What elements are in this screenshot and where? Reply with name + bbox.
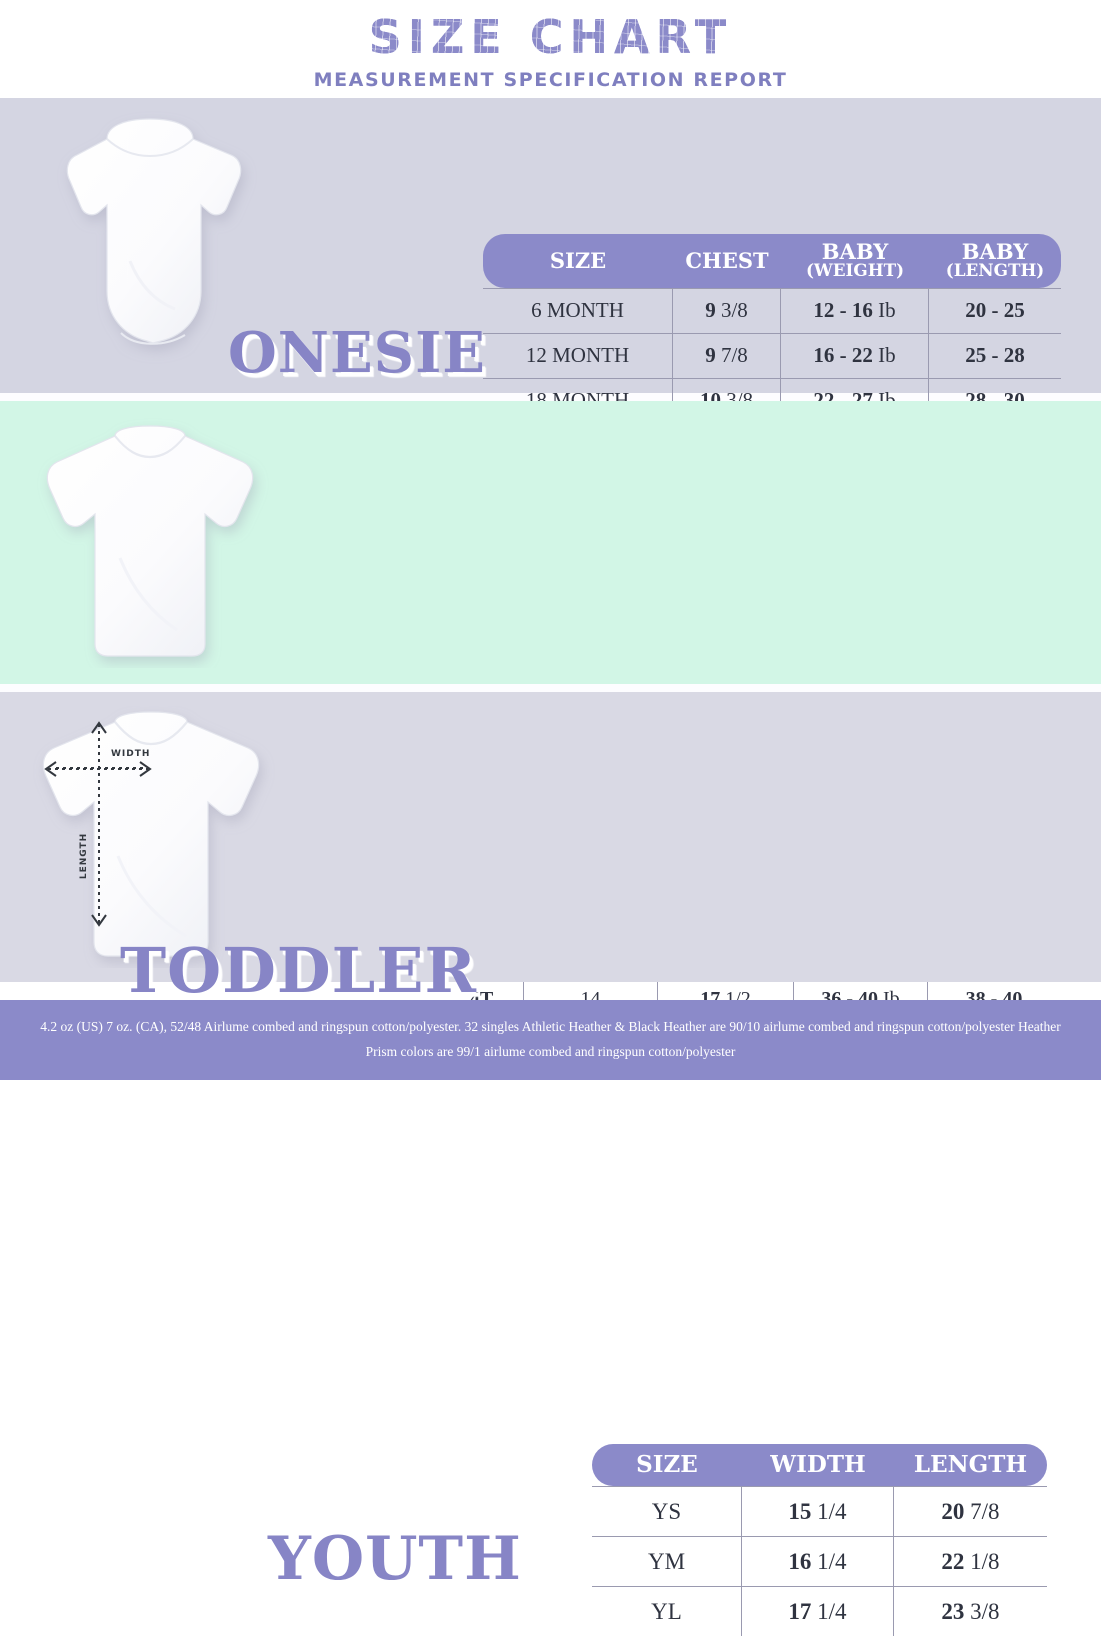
cell-width: 17 1/4 — [742, 1586, 894, 1636]
width-label: WIDTH — [111, 749, 150, 759]
col-header-chest: CHEST — [673, 234, 781, 288]
col-header-baby-weight: BABY (WEIGHT) — [781, 234, 929, 288]
cell-size: YS — [592, 1486, 742, 1536]
cell-baby-weight: 12 - 16 Ib — [781, 288, 929, 333]
fabric-composition-text: 4.2 oz (US) 7 oz. (CA), 52/48 Airlume co… — [40, 1015, 1061, 1065]
col-header-size: SIZE — [592, 1444, 742, 1486]
section-onesie: ONESIE SIZE CHEST BABY (WEIGHT) — [0, 98, 1101, 393]
cell-size: YM — [592, 1536, 742, 1586]
table-header-row: SIZE WIDTH LENGTH — [592, 1444, 1047, 1486]
toddler-tshirt-illustration — [25, 418, 275, 668]
page-title: SIZE CHART — [369, 14, 733, 60]
table-header-row: SIZE CHEST BABY (WEIGHT) BABY (LENGTH) — [483, 234, 1061, 288]
section-label-toddler: TODDLER — [120, 934, 477, 1007]
youth-size-table: SIZE WIDTH LENGTH YS 15 1/4 20 7/8 — [592, 1444, 1047, 1636]
cell-width: 16 1/4 — [742, 1536, 894, 1586]
cell-chest: 9 3/8 — [673, 288, 781, 333]
cell-width: 15 1/4 — [742, 1486, 894, 1536]
cell-baby-weight: 16 - 22 Ib — [781, 333, 929, 378]
cell-baby-length: 20 - 25 — [929, 288, 1061, 333]
length-label: LENGTH — [79, 833, 89, 879]
table-row: 6 MONTH 9 3/8 12 - 16 Ib 20 - 25 — [483, 288, 1061, 333]
col-header-size: SIZE — [483, 234, 673, 288]
col-header-baby-length: BABY (LENGTH) — [929, 234, 1061, 288]
youth-size-table-wrapper: SIZE WIDTH LENGTH YS 15 1/4 20 7/8 — [592, 1444, 1047, 1636]
cell-size: 12 MONTH — [483, 333, 673, 378]
cell-chest: 9 7/8 — [673, 333, 781, 378]
youth-tshirt-illustration: WIDTH LENGTH — [18, 706, 283, 968]
cell-baby-length: 25 - 28 — [929, 333, 1061, 378]
col-header-length: LENGTH — [894, 1444, 1047, 1486]
band-divider — [0, 684, 1101, 692]
table-row: YS 15 1/4 20 7/8 — [592, 1486, 1047, 1536]
table-row: YL 17 1/4 23 3/8 — [592, 1586, 1047, 1636]
cell-size: 6 MONTH — [483, 288, 673, 333]
cell-length: 22 1/8 — [894, 1536, 1047, 1586]
footer-bar: 4.2 oz (US) 7 oz. (CA), 52/48 Airlume co… — [0, 1000, 1101, 1080]
section-label-youth: YOUTH — [268, 1524, 522, 1594]
page-subtitle: MEASUREMENT SPECIFICATION REPORT — [314, 69, 788, 91]
section-toddler: TODDLER SIZE CHEST (INCHES) LENGTH (INCH… — [0, 401, 1101, 684]
cell-size: YL — [592, 1586, 742, 1636]
table-row: YM 16 1/4 22 1/8 — [592, 1536, 1047, 1586]
cell-length: 20 7/8 — [894, 1486, 1047, 1536]
toddler-garment-image — [0, 401, 300, 684]
table-row: 12 MONTH 9 7/8 16 - 22 Ib 25 - 28 — [483, 333, 1061, 378]
cell-length: 23 3/8 — [894, 1586, 1047, 1636]
page-header: SIZE CHART MEASUREMENT SPECIFICATION REP… — [0, 0, 1101, 98]
col-header-width: WIDTH — [742, 1444, 894, 1486]
section-label-onesie: ONESIE — [228, 320, 486, 386]
